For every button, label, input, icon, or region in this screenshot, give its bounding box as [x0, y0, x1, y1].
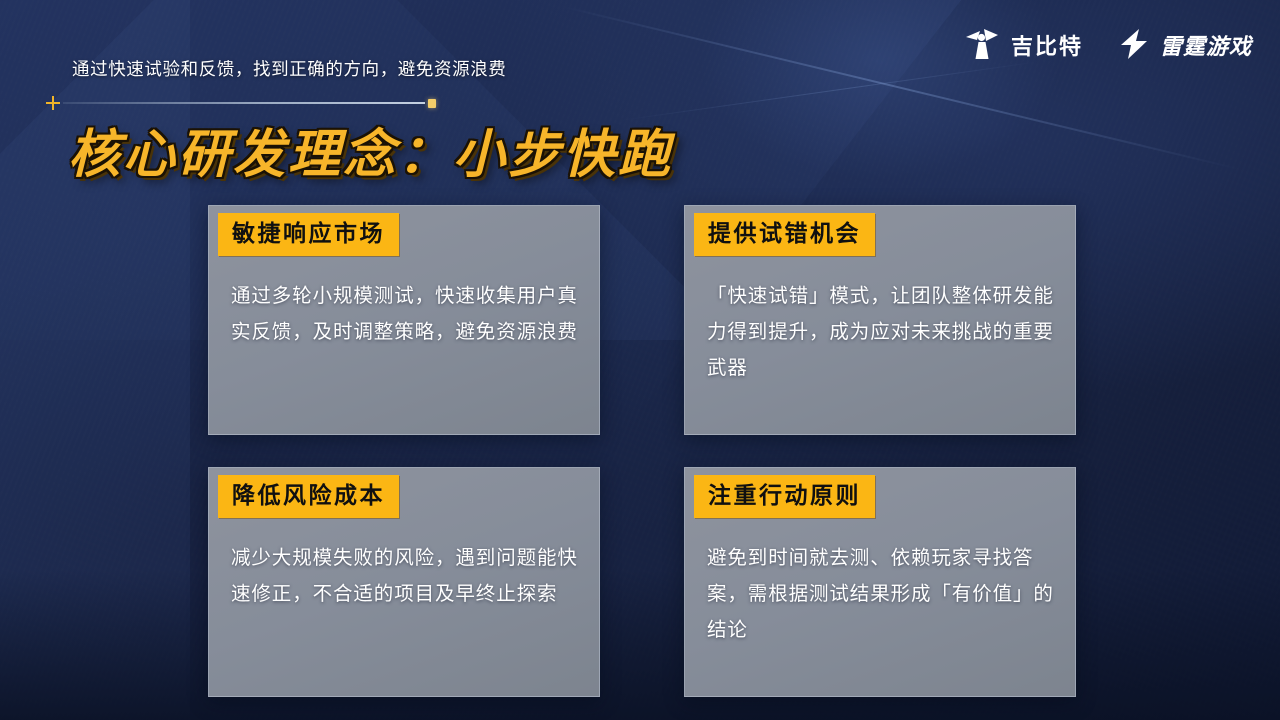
concept-card[interactable]: 注重行动原则 避免到时间就去测、依赖玩家寻找答案，需根据测试结果形成「有价值」的… [684, 467, 1076, 697]
card-body-text: 避免到时间就去测、依赖玩家寻找答案，需根据测试结果形成「有价值」的结论 [707, 540, 1057, 648]
title-divider [46, 96, 436, 110]
gbits-logo: 吉比特 [964, 27, 1083, 66]
card-badge-label: 降低风险成本 [218, 475, 399, 518]
plus-icon [46, 96, 60, 110]
thunder-games-logo-text: 雷霆游戏 [1160, 36, 1252, 58]
card-body-text: 通过多轮小规模测试，快速收集用户真实反馈，及时调整策略，避免资源浪费 [231, 278, 581, 350]
card-body-text: 减少大规模失败的风险，遇到问题能快速修正，不合适的项目及早终止探索 [231, 540, 581, 612]
card-badge-label: 敏捷响应市场 [218, 213, 399, 256]
gbits-logo-text: 吉比特 [1011, 36, 1083, 58]
card-badge-label: 注重行动原则 [694, 475, 875, 518]
concept-card[interactable]: 提供试错机会 「快速试错」模式，让团队整体研发能力得到提升，成为应对未来挑战的重… [684, 205, 1076, 435]
divider-endcap-icon [428, 99, 436, 108]
concept-card[interactable]: 降低风险成本 减少大规模失败的风险，遇到问题能快速修正，不合适的项目及早终止探索 [208, 467, 600, 697]
page-title: 核心研发理念：小步快跑 [68, 112, 673, 187]
card-body-text: 「快速试错」模式，让团队整体研发能力得到提升，成为应对未来挑战的重要武器 [707, 278, 1057, 386]
brand-logo-group: 吉比特 雷霆游戏 [964, 27, 1252, 66]
bird-arrow-icon [964, 27, 1002, 66]
presentation-slide: 吉比特 雷霆游戏 通过快速试验和反馈，找到正确的方向，避免资源浪费 核心研发理念… [0, 0, 1280, 720]
divider-line [63, 102, 425, 104]
slide-subtitle: 通过快速试验和反馈，找到正确的方向，避免资源浪费 [72, 56, 506, 81]
thunder-games-logo: 雷霆游戏 [1117, 28, 1252, 65]
concept-card-grid: 敏捷响应市场 通过多轮小规模测试，快速收集用户真实反馈，及时调整策略，避免资源浪… [208, 205, 1076, 697]
lightning-bolt-icon [1117, 28, 1151, 65]
concept-card[interactable]: 敏捷响应市场 通过多轮小规模测试，快速收集用户真实反馈，及时调整策略，避免资源浪… [208, 205, 600, 435]
card-badge-label: 提供试错机会 [694, 213, 875, 256]
